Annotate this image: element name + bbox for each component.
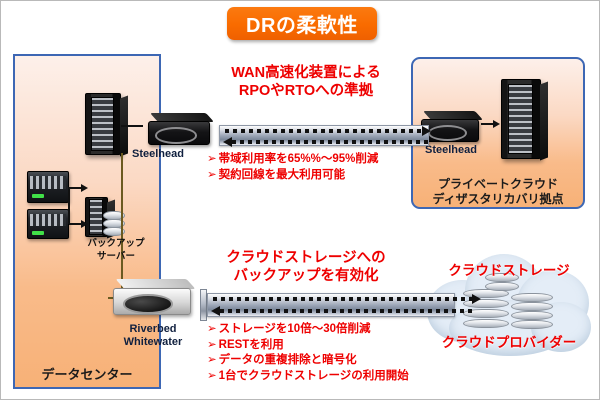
- cloud-heading-line2: バックアップを有効化: [197, 267, 415, 285]
- private-cloud-label-line2: ディザスタリカバリ拠点: [411, 192, 585, 207]
- wan-arrow-left: [223, 138, 429, 146]
- private-cloud-label-line1: プライベートクラウド: [411, 177, 585, 192]
- wan-heading-line1: WAN高速化装置による: [197, 64, 415, 82]
- wire-arrow: [81, 220, 88, 228]
- network-switch-icon: [27, 209, 69, 239]
- bullet-marker-icon: ➢: [207, 337, 217, 351]
- cloud-heading: クラウドストレージへの バックアップを有効化: [197, 249, 415, 285]
- backup-server-label-line1: バックアップ: [79, 237, 153, 250]
- bullet-item: ➢RESTを利用: [207, 337, 409, 353]
- bullet-text: 帯域利用率を65%%～95%削減: [219, 153, 379, 165]
- blade-chassis-icon: [27, 171, 69, 203]
- wan-heading-line2: RPOやRTOへの準拠: [197, 82, 415, 100]
- pipe-end-cap: [200, 289, 207, 321]
- server-rack-dr: [501, 79, 541, 159]
- datacenter-label: データセンター: [13, 367, 161, 382]
- backup-server-label-line2: サーバー: [79, 250, 153, 263]
- cloud-bullet-list: ➢ストレージを10倍～30倍削減➢RESTを利用➢データの重複排除と暗号化➢1台…: [207, 321, 409, 383]
- page-title: DRの柔軟性: [227, 7, 377, 40]
- wire: [121, 125, 143, 127]
- diagram-canvas: DRの柔軟性 Steelhead Riverbed Whitewater バック…: [0, 0, 600, 400]
- bullet-text: ストレージを10倍～30倍削減: [219, 323, 371, 335]
- whitewater-appliance: [113, 279, 191, 315]
- cloud-heading-line1: クラウドストレージへの: [197, 249, 415, 267]
- bullet-item: ➢契約回線を最大利用可能: [207, 167, 378, 183]
- bullet-text: RESTを利用: [219, 339, 284, 351]
- cloud-arrow-left: [211, 307, 473, 315]
- whitewater-label-line2: Whitewater: [111, 336, 195, 349]
- bullet-text: 1台でクラウドストレージの利用開始: [219, 370, 409, 382]
- wire: [68, 187, 70, 224]
- cloud-arrow-right: [213, 295, 481, 303]
- steelhead-appliance-datacenter: [148, 113, 210, 145]
- whitewater-label-line1: Riverbed: [111, 323, 195, 336]
- steelhead-datacenter-label: Steelhead: [132, 148, 184, 161]
- bullet-marker-icon: ➢: [207, 368, 217, 382]
- wire-arrow: [81, 184, 88, 192]
- cloud-database-icon-2: [511, 293, 553, 331]
- bullet-item: ➢ストレージを10倍～30倍削減: [207, 321, 409, 337]
- backup-server-label: バックアップ サーバー: [79, 237, 153, 263]
- bullet-marker-icon: ➢: [207, 321, 217, 335]
- wire-trunk: [121, 153, 123, 298]
- bullet-text: データの重複排除と暗号化: [219, 354, 357, 366]
- wan-bullet-list: ➢帯域利用率を65%%～95%削減➢契約回線を最大利用可能: [207, 151, 378, 182]
- server-rack-datacenter: [85, 93, 121, 155]
- bullet-item: ➢帯域利用率を65%%～95%削減: [207, 151, 378, 167]
- bullet-marker-icon: ➢: [207, 167, 217, 181]
- cloud-provider-label: クラウドプロバイダー: [419, 331, 599, 351]
- whitewater-label: Riverbed Whitewater: [111, 323, 195, 349]
- bullet-marker-icon: ➢: [207, 151, 217, 165]
- cloud-storage-label: クラウドストレージ: [419, 259, 599, 279]
- wire-arrow: [493, 120, 500, 128]
- bullet-item: ➢1台でクラウドストレージの利用開始: [207, 368, 409, 384]
- steelhead-dr-label: Steelhead: [425, 144, 477, 157]
- private-cloud-label: プライベートクラウド ディザスタリカバリ拠点: [411, 177, 585, 207]
- wan-arrow-right: [225, 127, 431, 135]
- bullet-item: ➢データの重複排除と暗号化: [207, 352, 409, 368]
- bullet-text: 契約回線を最大利用可能: [219, 169, 346, 181]
- bullet-marker-icon: ➢: [207, 352, 217, 366]
- wan-heading: WAN高速化装置による RPOやRTOへの準拠: [197, 64, 415, 100]
